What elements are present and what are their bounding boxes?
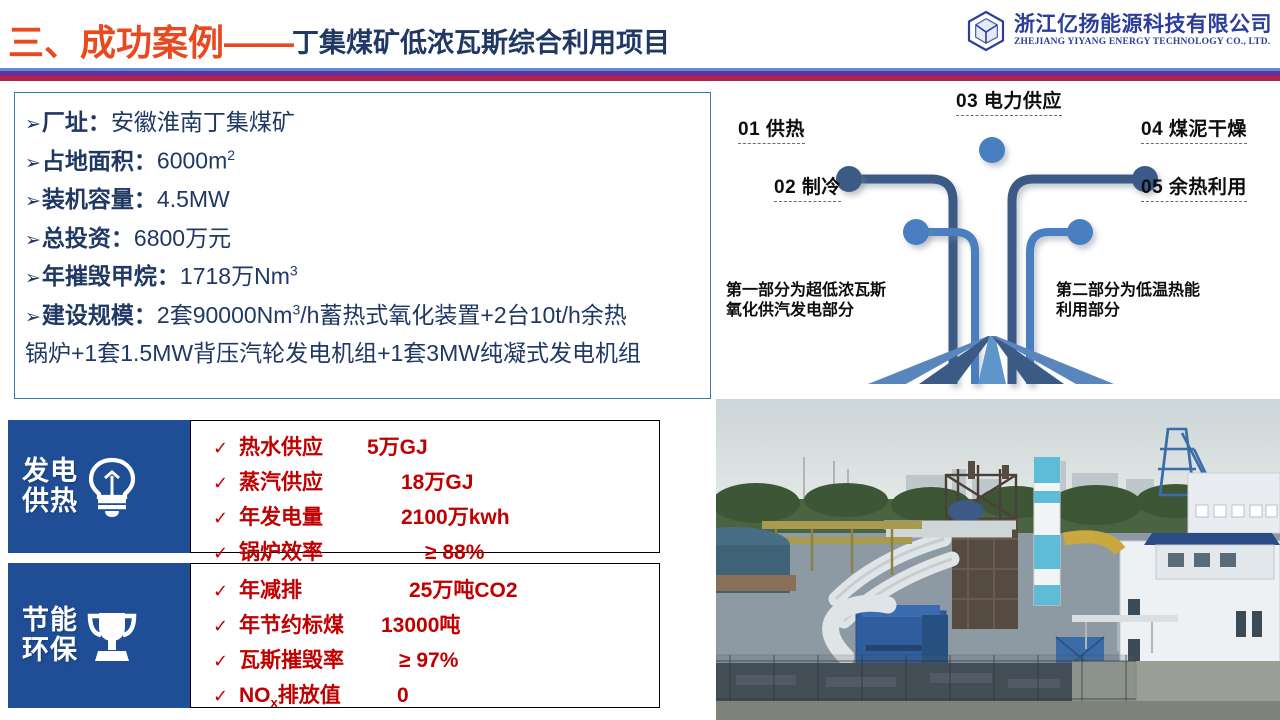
metric-value: 25万吨CO2 (367, 574, 518, 604)
info-row-scale: ➢ 建设规模 ： 2套90000Nm3/h蓄热式氧化装置+2台10t/h余热 (25, 296, 702, 330)
bullet-arrow-icon: ➢ (25, 231, 41, 250)
info-value-tail: /h蓄热式氧化装置+2台10t/h余热 (300, 302, 627, 328)
check-icon: ✓ (213, 686, 239, 707)
diagram-note-right: 第二部分为低温热能 利用部分 (1056, 281, 1200, 320)
info-colon: ： (111, 219, 134, 253)
info-label: 建设规模 (42, 296, 134, 330)
metric-value: 13000吨 (367, 609, 460, 639)
info-value: 2套90000Nm3/h蓄热式氧化装置+2台10t/h余热 (157, 296, 627, 330)
info-colon: ： (88, 103, 111, 137)
check-icon: ✓ (213, 581, 239, 602)
metric-name: 瓦斯摧毁率 (239, 644, 367, 674)
info-label: 占地面积 (42, 142, 134, 176)
badge-energy-saving-label: 节能 环保 (22, 606, 78, 664)
slide-header: 三、成功案例——丁集煤矿低浓瓦斯综合利用项目 浙江亿扬能源科技有限公司 ZHEJ… (0, 0, 1280, 68)
metric-name: 年发电量 (239, 501, 367, 531)
check-icon: ✓ (213, 616, 239, 637)
metric-table-energy-saving: ✓ 年减排 25万吨CO2 ✓ 年节约标煤 13000吨 ✓ 瓦斯摧毁率 ≥ 9… (190, 563, 660, 708)
badge-power-heat-label: 发电 供热 (22, 457, 78, 515)
info-value: 1718万Nm3 (180, 257, 298, 291)
diagram-label-01: 01 供热 (738, 114, 805, 144)
diagram-dot-02 (903, 219, 929, 245)
info-row-area: ➢ 占地面积 ： 6000m2 (25, 142, 702, 176)
info-value-superscript: 3 (290, 262, 298, 278)
metric-name: 锅炉效率 (239, 536, 367, 566)
check-icon: ✓ (213, 508, 239, 529)
page-title-subtitle: 丁集煤矿低浓瓦斯综合利用项目 (292, 28, 670, 58)
info-colon: ： (134, 296, 157, 330)
info-row-methane: ➢ 年摧毁甲烷 ： 1718万Nm3 (25, 257, 702, 291)
badge-label-line2: 环保 (22, 635, 78, 665)
table-row: ✓ NOx排放值 0 (213, 679, 659, 710)
table-row: ✓ 锅炉效率 ≥ 88% (213, 536, 659, 566)
info-value: 安徽淮南丁集煤矿 (111, 103, 295, 137)
metric-name: 热水供应 (239, 431, 367, 461)
hexagon-logo-icon (966, 10, 1006, 52)
table-row: ✓ 年发电量 2100万kwh (213, 501, 659, 531)
page-title-dash: —— (224, 22, 292, 63)
diagram-label-03: 03 电力供应 (956, 86, 1062, 116)
info-value: 6000m2 (157, 147, 235, 175)
info-colon: ： (157, 257, 180, 291)
metric-name-nox: NOx排放值 (239, 679, 367, 710)
bullet-arrow-icon: ➢ (25, 154, 41, 173)
trophy-icon (84, 605, 140, 667)
badge-label-line1: 节能 (22, 605, 78, 635)
table-row: ✓ 蒸汽供应 18万GJ (213, 466, 659, 496)
company-logo: 浙江亿扬能源科技有限公司 ZHEJIANG YIYANG ENERGY TECH… (966, 10, 1272, 52)
badge-power-heat: 发电 供热 (8, 420, 190, 553)
industrial-plant-photo (716, 399, 1280, 720)
info-row-capacity: ➢ 装机容量 ： 4.5MW (25, 180, 702, 214)
check-icon: ✓ (213, 651, 239, 672)
info-label: 总投资 (42, 219, 111, 253)
metric-value: ≥ 88% (367, 541, 484, 565)
check-icon: ✓ (213, 438, 239, 459)
page-title: 三、成功案例——丁集煤矿低浓瓦斯综合利用项目 (8, 14, 670, 66)
info-label: 年摧毁甲烷 (42, 257, 157, 291)
company-name-cn: 浙江亿扬能源科技有限公司 (1014, 14, 1272, 35)
bullet-arrow-icon: ➢ (25, 269, 41, 288)
info-value-text: 1718万Nm (180, 263, 290, 289)
info-row-site: ➢ 厂址 ： 安徽淮南丁集煤矿 (25, 103, 702, 137)
metric-value: 5万GJ (367, 431, 428, 461)
table-row: ✓ 年减排 25万吨CO2 (213, 574, 659, 604)
metric-value: 2100万kwh (367, 501, 510, 531)
info-value-text: 6000m (157, 148, 227, 174)
metric-group-power-heat: 发电 供热 ✓ 热水供应 5万GJ ✓ (8, 420, 660, 553)
metric-name: 蒸汽供应 (239, 466, 367, 496)
badge-label-line2: 供热 (22, 486, 78, 516)
slide-root: 三、成功案例——丁集煤矿低浓瓦斯综合利用项目 浙江亿扬能源科技有限公司 ZHEJ… (0, 0, 1280, 720)
info-row-investment: ➢ 总投资 ： 6800万元 (25, 219, 702, 253)
metric-value: 0 (367, 684, 409, 708)
badge-energy-saving: 节能 环保 (8, 563, 190, 708)
metric-name-subscript: x (271, 695, 278, 710)
metric-name: 年节约标煤 (239, 609, 367, 639)
diagram-dot-05 (1067, 219, 1093, 245)
table-row: ✓ 年节约标煤 13000吨 (213, 609, 659, 639)
info-scale-wrap-line: 锅炉+1套1.5MW背压汽轮发电机组+1套3MW纯凝式发电机组 (25, 334, 702, 368)
badge-label-line1: 发电 (22, 456, 78, 486)
check-icon: ✓ (213, 473, 239, 494)
info-colon: ： (134, 142, 157, 176)
metric-value: 18万GJ (367, 466, 473, 496)
metric-group-energy-saving: 节能 环保 ✓ 年减排 25万吨CO2 ✓ 年节约标煤 (8, 563, 660, 708)
diagram-label-04: 04 煤泥干燥 (1141, 114, 1247, 144)
company-name-block: 浙江亿扬能源科技有限公司 ZHEJIANG YIYANG ENERGY TECH… (1014, 14, 1272, 48)
info-value-text: 2套90000Nm (157, 302, 293, 328)
metric-name: 年减排 (239, 574, 367, 604)
info-value: 4.5MW (157, 186, 230, 213)
metric-table-power-heat: ✓ 热水供应 5万GJ ✓ 蒸汽供应 18万GJ ✓ 年发电量 2100万kwh… (190, 420, 660, 553)
check-icon: ✓ (213, 543, 239, 564)
info-label: 厂址 (42, 103, 88, 137)
page-title-main: 三、成功案例 (8, 22, 224, 63)
info-label: 装机容量 (42, 180, 134, 214)
diagram-label-02: 02 制冷 (774, 172, 841, 202)
table-row: ✓ 热水供应 5万GJ (213, 431, 659, 461)
diagram-note-left: 第一部分为超低浓瓦斯 氧化供汽发电部分 (726, 281, 886, 320)
header-divider (0, 68, 1280, 81)
table-row: ✓ 瓦斯摧毁率 ≥ 97% (213, 644, 659, 674)
bullet-arrow-icon: ➢ (25, 115, 41, 134)
diagram-label-05: 05 余热利用 (1141, 172, 1247, 202)
company-name-en: ZHEJIANG YIYANG ENERGY TECHNOLOGY CO., L… (1014, 38, 1272, 48)
metric-value: ≥ 97% (367, 649, 458, 673)
lightbulb-icon (84, 456, 140, 518)
project-info-box: ➢ 厂址 ： 安徽淮南丁集煤矿 ➢ 占地面积 ： 6000m2 ➢ 装机容量 ：… (14, 92, 711, 399)
bullet-arrow-icon: ➢ (25, 192, 41, 211)
bullet-arrow-icon: ➢ (25, 308, 41, 327)
energy-utilization-diagram: 01 供热 02 制冷 03 电力供应 04 煤泥干燥 05 余热利用 第一部分… (716, 84, 1280, 397)
diagram-dot-03 (979, 137, 1005, 163)
info-value-superscript: 2 (227, 147, 235, 163)
info-value: 6800万元 (134, 219, 231, 253)
info-colon: ： (134, 180, 157, 214)
diagram-root-fan (868, 336, 1114, 384)
